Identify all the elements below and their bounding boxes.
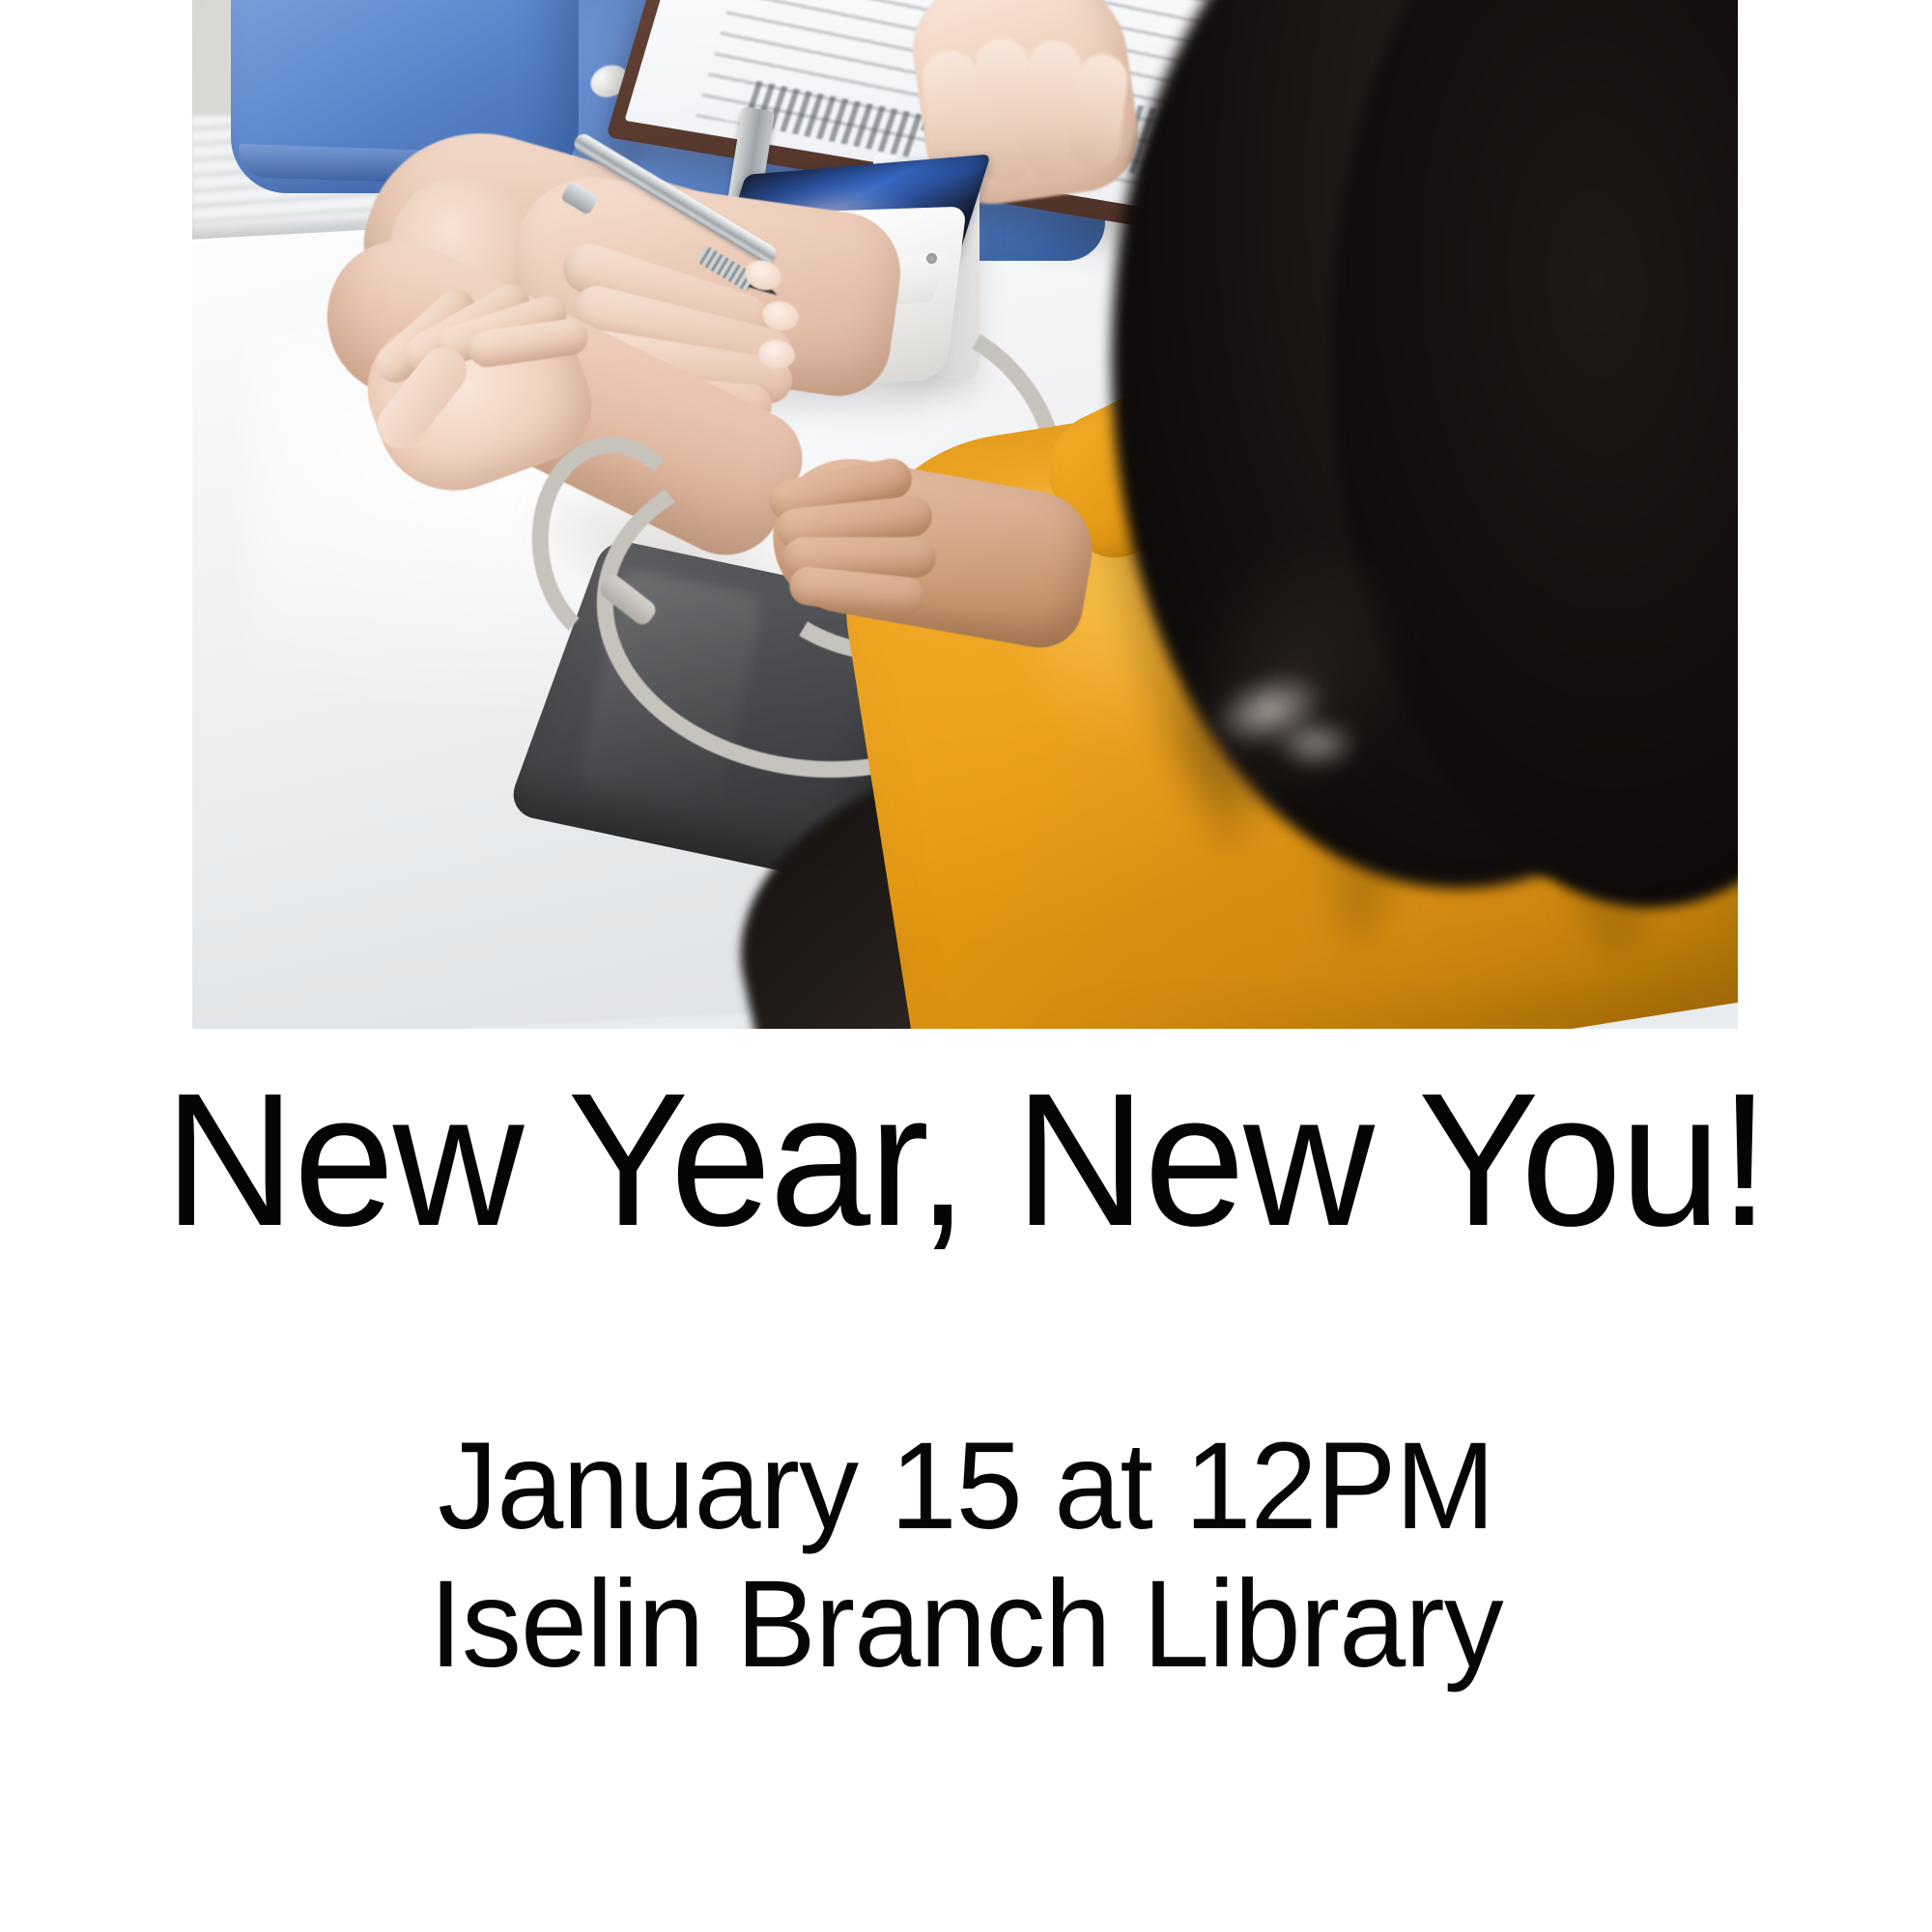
hero-photo (192, 0, 1738, 1029)
event-venue: Iselin Branch Library (29, 1555, 1903, 1693)
event-details: January 15 at 12PM Iselin Branch Library (29, 1255, 1903, 1694)
hair-highlight (1272, 717, 1359, 771)
photo-scene (192, 0, 1738, 1029)
event-flyer: New Year, New You! January 15 at 12PM Is… (0, 0, 1932, 1932)
event-date-time: January 15 at 12PM (29, 1417, 1903, 1555)
monitor-indicator (926, 253, 937, 264)
page-title: New Year, New You! (39, 1029, 1893, 1255)
text-block: New Year, New You! January 15 at 12PM Is… (0, 1029, 1932, 1694)
